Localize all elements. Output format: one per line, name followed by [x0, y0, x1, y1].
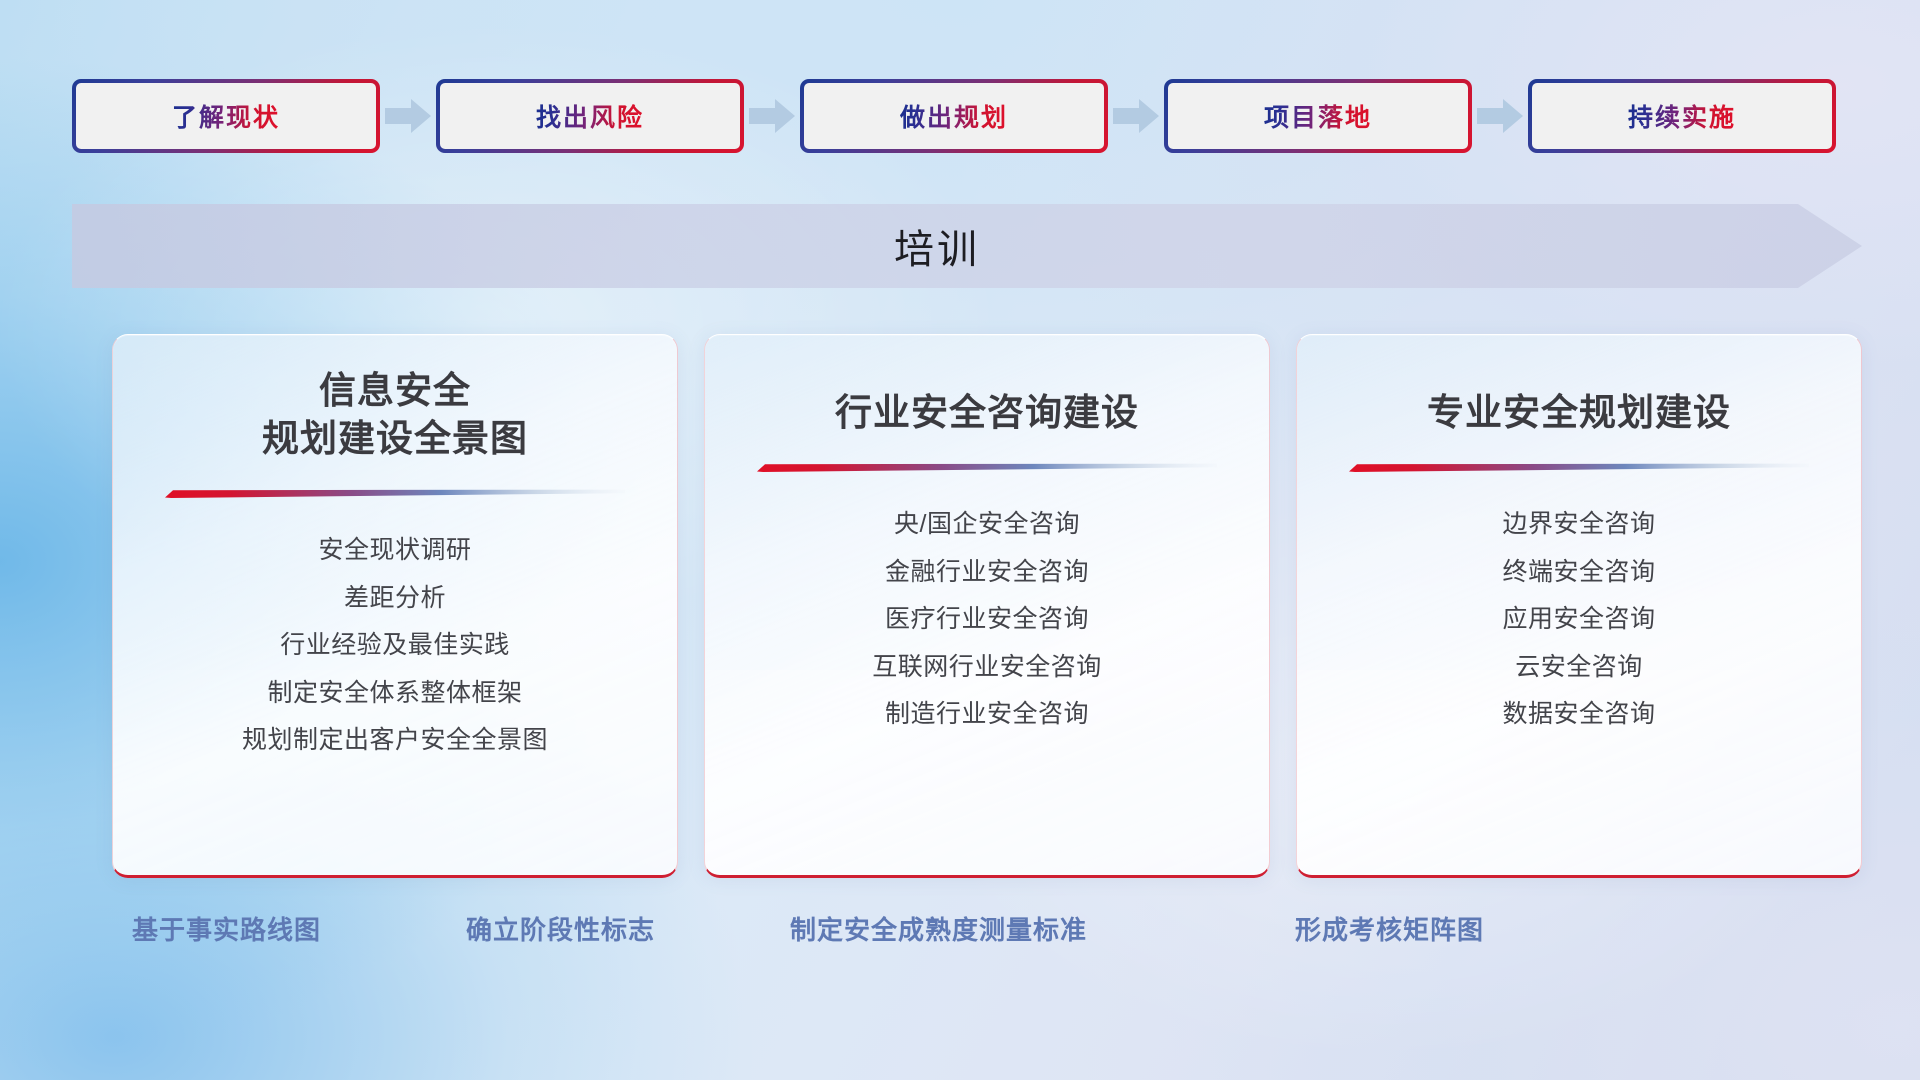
step-label-1: 了解现状: [172, 98, 280, 134]
service-card-3[interactable]: 专业安全规划建设 边界安全咨询 终端安全咨询 应用安: [1296, 334, 1862, 878]
training-arrow-band: 培训: [72, 204, 1862, 288]
list-item: 规划制定出客户安全全景图: [242, 720, 548, 761]
card-title-3: 专业安全规划建设: [1427, 389, 1731, 437]
list-item: 互联网行业安全咨询: [872, 647, 1102, 688]
footer-label-2: 确立阶段性标志: [466, 910, 655, 947]
card-title-2: 行业安全咨询建设: [835, 389, 1139, 437]
training-band-title: 培训: [72, 204, 1862, 288]
card-divider-2: [757, 463, 1217, 472]
step-connector-arrow-1: [380, 99, 436, 133]
list-item: 医疗行业安全咨询: [885, 599, 1089, 640]
card-divider-1: [165, 489, 625, 498]
list-item: 金融行业安全咨询: [885, 552, 1089, 593]
list-item: 数据安全咨询: [1502, 694, 1655, 735]
service-card-2[interactable]: 行业安全咨询建设 央/国企安全咨询 金融行业安全咨询: [704, 334, 1270, 878]
card-list-3: 边界安全咨询 终端安全咨询 应用安全咨询 云安全咨询 数据安全咨询: [1502, 504, 1655, 735]
list-item: 制定安全体系整体框架: [267, 673, 522, 714]
card-list-2: 央/国企安全咨询 金融行业安全咨询 医疗行业安全咨询 互联网行业安全咨询 制造行…: [872, 504, 1102, 735]
list-item: 差距分析: [344, 578, 446, 619]
step-label-4: 项目落地: [1264, 98, 1372, 134]
step-box-5[interactable]: 持续实施: [1528, 79, 1836, 153]
list-item: 边界安全咨询: [1502, 504, 1655, 545]
step-label-3: 做出规划: [900, 98, 1008, 134]
step-box-2[interactable]: 找出风险: [436, 79, 744, 153]
step-connector-arrow-4: [1472, 99, 1528, 133]
step-box-3[interactable]: 做出规划: [800, 79, 1108, 153]
footer-label-3: 制定安全成熟度测量标准: [790, 910, 1087, 947]
list-item: 安全现状调研: [318, 530, 471, 571]
service-card-1[interactable]: 信息安全 规划建设全景图 安全现状调研 差距分析 行: [112, 334, 678, 878]
list-item: 云安全咨询: [1515, 647, 1643, 688]
card-list-1: 安全现状调研 差距分析 行业经验及最佳实践 制定安全体系整体框架 规划制定出客户…: [242, 530, 548, 761]
card-title-1: 信息安全 规划建设全景图: [262, 367, 528, 463]
footer-label-4: 形成考核矩阵图: [1295, 910, 1484, 947]
process-step-strip: 了解现状 找出风险 做出规划 项目落地 持续实施: [72, 78, 1862, 154]
list-item: 终端安全咨询: [1502, 552, 1655, 593]
footer-label-row: 基于事实路线图 确立阶段性标志 制定安全成熟度测量标准 形成考核矩阵图: [0, 910, 1920, 958]
card-divider-3: [1349, 463, 1809, 472]
step-label-5: 持续实施: [1628, 98, 1736, 134]
step-box-1[interactable]: 了解现状: [72, 79, 380, 153]
service-card-group: 信息安全 规划建设全景图 安全现状调研 差距分析 行: [112, 334, 1862, 878]
step-label-2: 找出风险: [536, 98, 644, 134]
step-connector-arrow-2: [744, 99, 800, 133]
list-item: 央/国企安全咨询: [894, 504, 1080, 545]
list-item: 应用安全咨询: [1502, 599, 1655, 640]
list-item: 行业经验及最佳实践: [280, 625, 510, 666]
list-item: 制造行业安全咨询: [885, 694, 1089, 735]
step-connector-arrow-3: [1108, 99, 1164, 133]
footer-label-1: 基于事实路线图: [132, 910, 321, 947]
step-box-4[interactable]: 项目落地: [1164, 79, 1472, 153]
